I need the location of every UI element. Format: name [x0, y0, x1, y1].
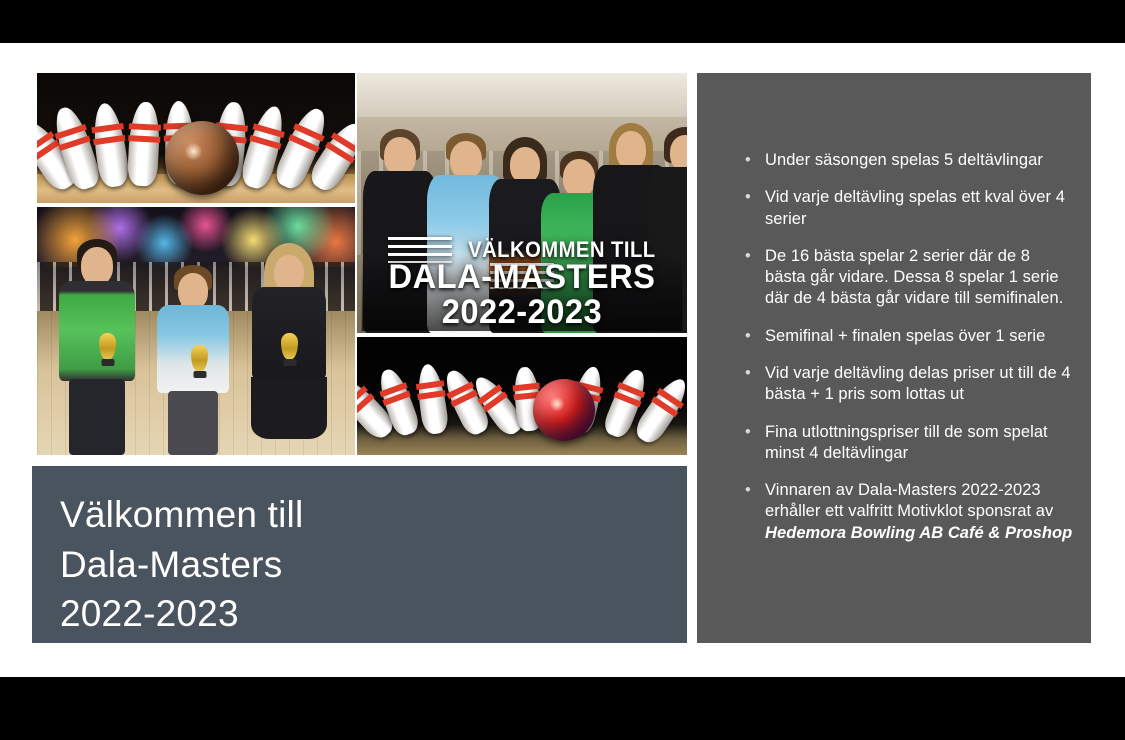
trophy-icon — [281, 333, 298, 359]
list-item: •Vinnaren av Dala-Masters 2022-2023 erhå… — [743, 480, 1075, 544]
trophy-icon — [191, 345, 208, 371]
slide-canvas: VÄLKOMMEN TILL DALA-MASTERS 2022-2023 — [0, 43, 1125, 677]
image-collage: VÄLKOMMEN TILL DALA-MASTERS 2022-2023 — [37, 73, 687, 455]
winner-person — [151, 259, 235, 455]
skirt — [251, 377, 327, 439]
list-item: • Vid varje deltävling delas priser ut t… — [743, 363, 1075, 406]
winner-person — [53, 237, 141, 455]
page-title: Välkommen till Dala-Masters 2022-2023 — [60, 490, 303, 639]
bullet-dot-icon: • — [745, 363, 751, 384]
podium-winners-photo — [37, 207, 355, 455]
team-group-photo: VÄLKOMMEN TILL DALA-MASTERS 2022-2023 — [357, 73, 687, 333]
head — [384, 137, 416, 175]
bullet-dot-icon: • — [745, 187, 751, 208]
list-item: • Fina utlottningspriser till de som spe… — [743, 422, 1075, 465]
green-jersey — [59, 281, 135, 381]
bullet-dot-icon: • — [745, 150, 751, 171]
red-ball-pins-photo — [357, 337, 687, 455]
bullet-list: • Under säsongen spelas 5 deltävlingar •… — [743, 150, 1075, 560]
overlay-title-text: DALA-MASTERS 2022-2023 — [362, 254, 683, 331]
head — [450, 141, 482, 179]
bullet-dot-icon: • — [745, 246, 751, 267]
list-item-text: Semifinal + finalen spelas över 1 serie — [765, 327, 1045, 345]
list-item: • Under säsongen spelas 5 deltävlingar — [743, 150, 1075, 171]
bowling-ball-icon — [533, 379, 595, 441]
bullet-dot-icon: • — [745, 326, 751, 347]
list-item: • Semifinal + finalen spelas över 1 seri… — [743, 326, 1075, 347]
winner-person — [243, 243, 335, 455]
list-item-text: Vid varje deltävling delas priser ut til… — [765, 364, 1071, 403]
bullet-content-panel: • Under säsongen spelas 5 deltävlingar •… — [697, 73, 1091, 643]
bullet-dot-icon: • — [745, 480, 751, 501]
head — [81, 247, 113, 285]
list-item: • De 16 bästa spelar 2 serier där de 8 b… — [743, 246, 1075, 310]
list-item-text: Vid varje deltävling spelas ett kval öve… — [765, 188, 1065, 227]
ball-highlight — [549, 397, 565, 411]
head — [178, 273, 208, 309]
bullet-dot-icon: • — [745, 422, 751, 443]
ball-highlight — [184, 143, 203, 159]
list-item-text: Vinnaren av Dala-Masters 2022-2023 erhål… — [765, 481, 1053, 520]
legs — [69, 379, 125, 455]
head — [670, 135, 687, 171]
head — [616, 131, 646, 169]
list-item-text: Under säsongen spelas 5 deltävlingar — [765, 151, 1043, 169]
list-item-text: De 16 bästa spelar 2 serier där de 8 bäs… — [765, 247, 1063, 308]
bowling-pins-strike-photo — [37, 73, 355, 203]
slide-title-box: Välkommen till Dala-Masters 2022-2023 — [32, 466, 687, 643]
bowling-ball-icon — [165, 121, 239, 195]
slide-viewer: VÄLKOMMEN TILL DALA-MASTERS 2022-2023 — [0, 0, 1125, 740]
head — [274, 255, 304, 291]
list-item: • Vid varje deltävling spelas ett kval ö… — [743, 187, 1075, 230]
trophy-icon — [99, 333, 116, 359]
legs — [168, 391, 218, 455]
sponsor-emphasis: Hedemora Bowling AB Café & Proshop — [765, 524, 1072, 542]
list-item-text: Fina utlottningspriser till de som spela… — [765, 423, 1048, 462]
head — [510, 147, 540, 183]
